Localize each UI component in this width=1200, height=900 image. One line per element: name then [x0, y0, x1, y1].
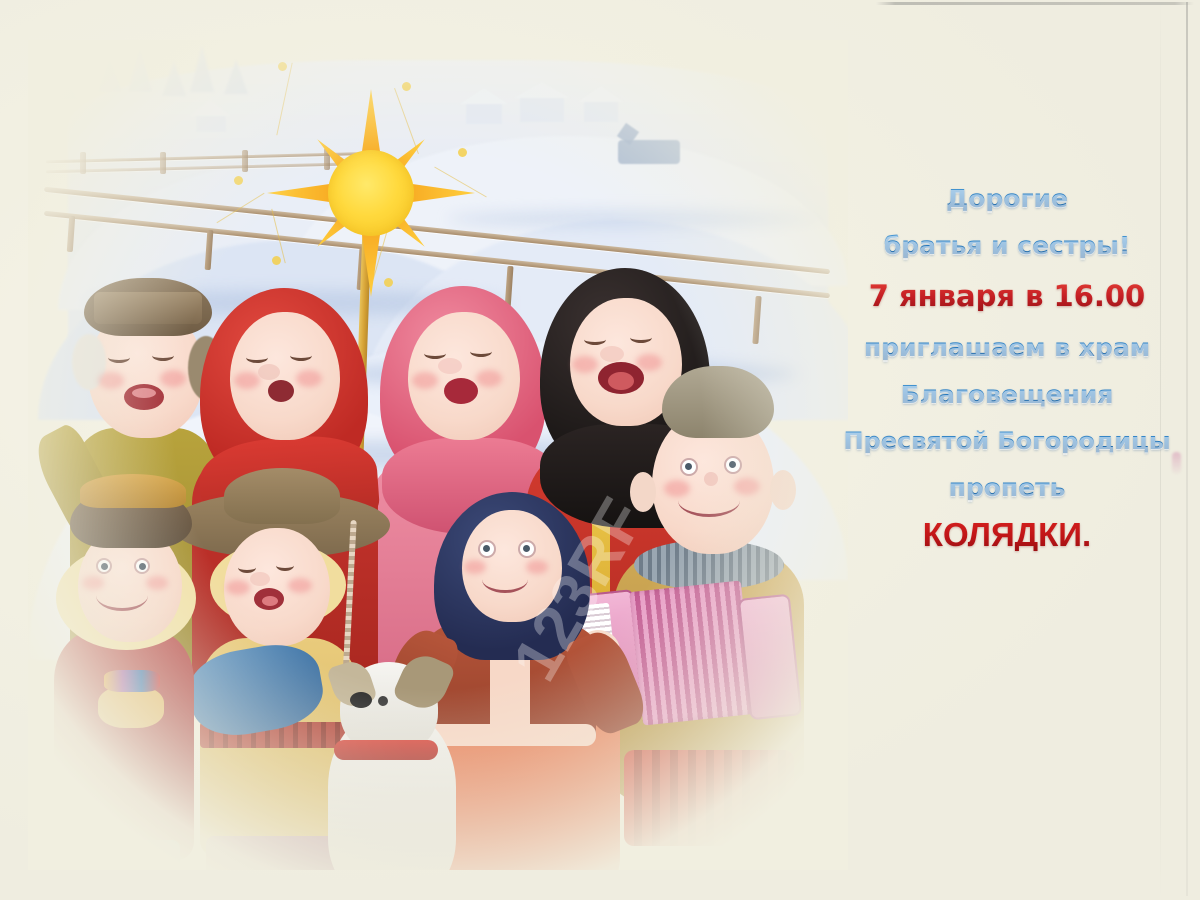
tongue — [608, 372, 634, 390]
announcement-line-1: Дорогие — [842, 186, 1172, 211]
announcement-text-block: Дорогие братья и сестры! 7 января в 16.0… — [842, 186, 1172, 551]
ear — [630, 472, 656, 512]
nose — [704, 472, 718, 486]
fir-tree-icon — [54, 74, 78, 100]
announcement-line-6: Пресвятой Богородицы — [842, 429, 1172, 453]
ear — [770, 470, 796, 510]
tongue — [262, 596, 278, 606]
poster-canvas: 123RF Дорогие братья и сестры! 7 января … — [0, 0, 1200, 900]
fir-tree-icon — [190, 46, 214, 92]
dog-eye — [378, 696, 388, 706]
paper-speck — [1172, 452, 1181, 474]
fence-post — [242, 150, 248, 172]
fir-tree-icon — [162, 62, 186, 96]
announcement-line-2: братья и сестры! — [842, 233, 1172, 258]
carolers-illustration: 123RF — [28, 40, 848, 870]
hat-top — [80, 474, 186, 508]
fence-post — [80, 152, 86, 174]
star-spark — [234, 176, 243, 185]
fir-tree-icon — [128, 48, 152, 92]
coat-fur-trim — [426, 724, 596, 746]
dog-collar — [334, 740, 438, 760]
announcement-line-5: Благовещения — [842, 382, 1172, 407]
hat-crown — [224, 468, 340, 524]
fir-tree-icon — [98, 58, 122, 92]
nose — [250, 572, 270, 586]
announcement-date-time: 7 января в 16.00 — [842, 282, 1172, 311]
trousers — [72, 840, 180, 870]
village-house — [196, 114, 226, 132]
paper-edge-top — [876, 2, 1194, 5]
dog-nose — [350, 692, 372, 708]
nose — [258, 364, 280, 380]
village-house — [520, 96, 564, 122]
nose — [600, 346, 624, 362]
announcement-kolyadki: КОЛЯДКИ. — [842, 518, 1172, 551]
paper-edge-right — [1186, 2, 1188, 896]
announcement-line-4: приглашаем в храм — [842, 335, 1172, 360]
striped-trousers — [624, 750, 794, 846]
announcement-line-7: пропеть — [842, 475, 1172, 500]
nose — [438, 358, 462, 374]
treats — [104, 670, 160, 692]
snow-shadow — [448, 210, 828, 228]
fence-post — [160, 152, 166, 174]
accordion-bellows — [629, 581, 754, 726]
star-spark — [278, 62, 287, 71]
village-house — [584, 100, 618, 122]
fir-tree-icon — [224, 60, 248, 94]
bethlehem-star-icon — [266, 88, 476, 298]
mittens — [98, 686, 164, 728]
